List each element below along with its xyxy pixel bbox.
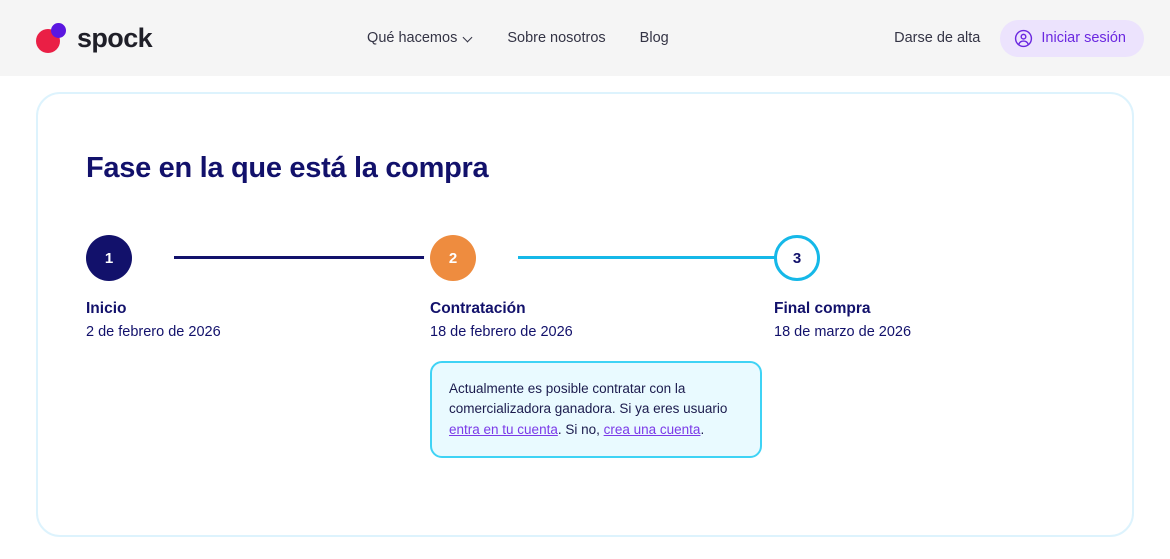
step-node-2-number: 2 (449, 250, 457, 267)
step-node-2[interactable]: 2 (430, 235, 476, 281)
nav-item-sobre-nosotros-label: Sobre nosotros (507, 30, 605, 46)
step-1-name: Inicio (86, 299, 221, 320)
info-text-part-1: Actualmente es posible contratar con la … (449, 381, 727, 416)
stepper-tooltip-row: Actualmente es posible contratar con la … (86, 361, 1084, 451)
stepper-connector-2-3 (518, 256, 816, 259)
step-1-date: 2 de febrero de 2026 (86, 322, 221, 342)
step-2-name: Contratación (430, 299, 573, 320)
login-button-label: Iniciar sesión (1041, 30, 1126, 46)
contratacion-info-text: Actualmente es posible contratar con la … (449, 379, 742, 440)
step-node-3-number: 3 (793, 250, 801, 267)
signup-link[interactable]: Darse de alta (894, 30, 980, 46)
nav-item-que-hacemos[interactable]: Qué hacemos (367, 30, 473, 46)
stepper-connector-1-2 (174, 256, 472, 259)
step-node-1[interactable]: 1 (86, 235, 132, 281)
purchase-phase-stepper: 1 2 3 (86, 235, 1084, 281)
login-account-link[interactable]: entra en tu cuenta (449, 422, 558, 437)
page-title: Fase en la que está la compra (86, 152, 1084, 185)
nav-item-que-hacemos-label: Qué hacemos (367, 30, 457, 46)
account-actions: Darse de alta Iniciar sesión (894, 20, 1144, 57)
stepper-labels: Inicio 2 de febrero de 2026 Contratación… (86, 299, 1084, 345)
contratacion-info-box: Actualmente es posible contratar con la … (430, 361, 762, 458)
step-label-group-3: Final compra 18 de marzo de 2026 (774, 299, 911, 342)
logo-purple-dot (51, 23, 66, 38)
brand-logo[interactable]: spock (36, 23, 152, 53)
info-text-part-2: . Si no, (558, 422, 604, 437)
create-account-link[interactable]: crea una cuenta (604, 422, 701, 437)
spock-logo-icon (36, 23, 68, 53)
site-header: spock Qué hacemos Sobre nosotros Blog Da… (0, 0, 1170, 76)
purchase-phase-card: Fase en la que está la compra 1 2 3 Inic… (36, 92, 1134, 537)
step-2-date: 18 de febrero de 2026 (430, 322, 573, 342)
stepper-track: 1 2 3 (86, 235, 1084, 281)
chevron-down-icon (464, 33, 473, 42)
primary-navigation: Qué hacemos Sobre nosotros Blog (367, 30, 669, 46)
nav-item-blog-label: Blog (640, 30, 669, 46)
step-node-3[interactable]: 3 (774, 235, 820, 281)
user-circle-icon (1014, 29, 1033, 48)
brand-name: spock (77, 25, 152, 52)
nav-item-sobre-nosotros[interactable]: Sobre nosotros (507, 30, 605, 46)
info-text-part-3: . (700, 422, 704, 437)
step-3-name: Final compra (774, 299, 911, 320)
step-3-date: 18 de marzo de 2026 (774, 322, 911, 342)
step-label-group-2: Contratación 18 de febrero de 2026 (430, 299, 573, 342)
step-node-1-number: 1 (105, 250, 113, 267)
login-button[interactable]: Iniciar sesión (1000, 20, 1144, 57)
nav-item-blog[interactable]: Blog (640, 30, 669, 46)
page-body: Fase en la que está la compra 1 2 3 Inic… (0, 76, 1170, 537)
step-label-group-1: Inicio 2 de febrero de 2026 (86, 299, 221, 342)
